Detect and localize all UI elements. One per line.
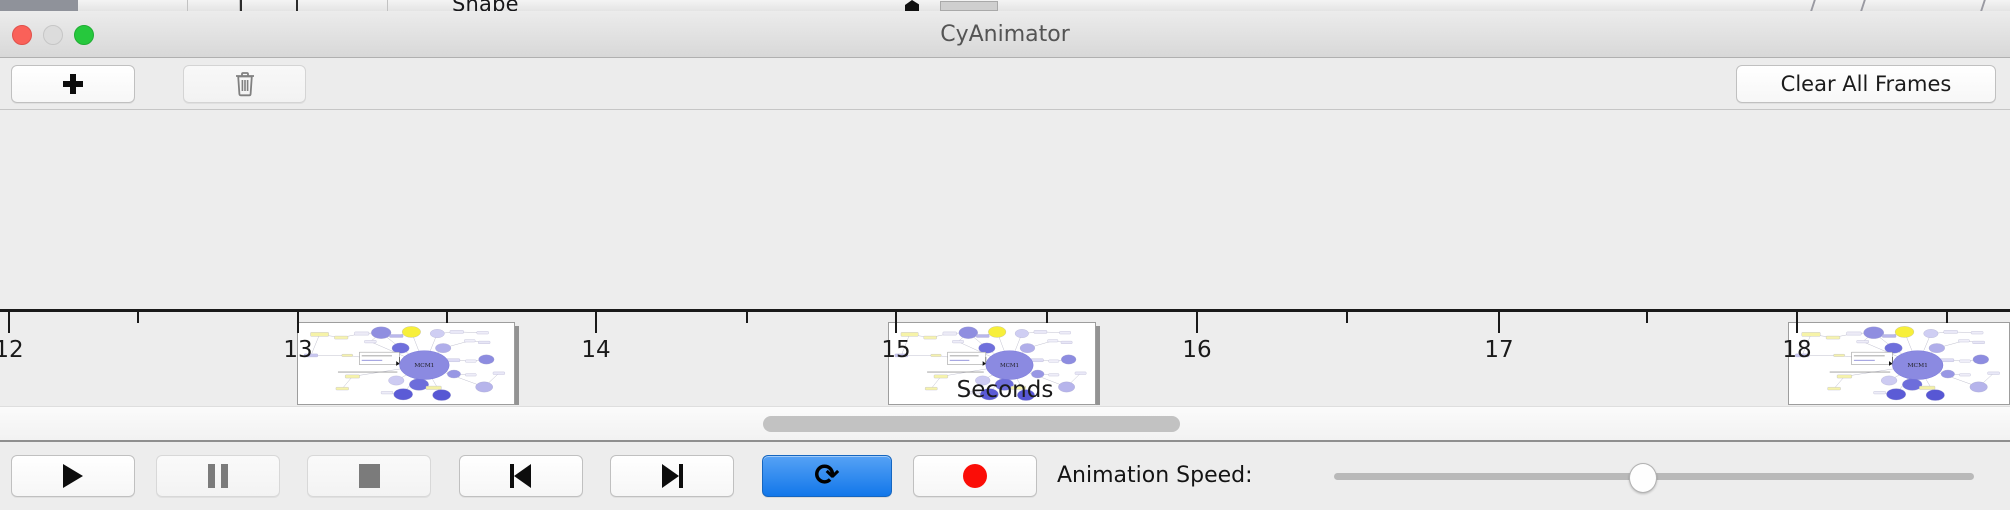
record-button[interactable] xyxy=(913,455,1037,497)
clear-all-frames-label: Clear All Frames xyxy=(1781,72,1952,96)
skip-to-end-button[interactable] xyxy=(610,455,734,497)
play-icon xyxy=(63,464,83,488)
background-window-tick xyxy=(296,0,298,11)
ruler-axis-line xyxy=(0,309,2010,312)
play-button[interactable] xyxy=(11,455,135,497)
animation-speed-label: Animation Speed: xyxy=(1057,455,1253,497)
background-window-glyph xyxy=(905,0,919,11)
background-window-slash xyxy=(1980,0,1998,11)
background-window-segment xyxy=(312,0,388,11)
close-icon[interactable] xyxy=(12,25,32,45)
ruler-tick-label: 14 xyxy=(581,337,610,363)
ruler-tick-major xyxy=(895,312,897,333)
window-controls xyxy=(12,25,94,45)
background-window-box xyxy=(940,1,998,11)
maximize-icon[interactable] xyxy=(74,25,94,45)
ruler-tick-minor xyxy=(446,312,448,323)
ruler-tick-label: 15 xyxy=(881,337,910,363)
ruler-tick-major xyxy=(1796,312,1798,333)
ruler-tick-major xyxy=(1498,312,1500,333)
axis-title: Seconds xyxy=(0,377,2010,403)
ruler-tick-minor xyxy=(137,312,139,323)
ruler-tick-label: 12 xyxy=(0,337,24,363)
ruler-tick-major xyxy=(595,312,597,333)
trash-icon xyxy=(234,71,256,97)
minimize-icon[interactable] xyxy=(43,25,63,45)
skip-to-end-icon xyxy=(661,464,683,488)
scrollbar-thumb[interactable] xyxy=(763,416,1180,432)
ruler-tick-label: 17 xyxy=(1484,337,1513,363)
loop-button[interactable]: ⟳ xyxy=(762,455,892,497)
playback-controlbar: ⟳ Animation Speed: xyxy=(0,442,2010,510)
ruler-tick-minor xyxy=(1346,312,1348,323)
background-window-slash xyxy=(1810,0,1828,11)
clear-all-frames-button[interactable]: Clear All Frames xyxy=(1736,65,1996,103)
skip-to-start-icon xyxy=(510,464,532,488)
stop-button[interactable] xyxy=(307,455,431,497)
timeline-ruler: 12131415161718 Seconds xyxy=(0,309,2010,405)
pause-icon xyxy=(208,464,228,488)
stop-icon xyxy=(359,464,380,488)
add-frame-button[interactable] xyxy=(11,65,135,103)
pause-button[interactable] xyxy=(156,455,280,497)
ruler-tick-label: 18 xyxy=(1782,337,1811,363)
ruler-tick-major xyxy=(8,312,10,333)
record-icon xyxy=(963,464,987,488)
background-window-slash xyxy=(1860,0,1878,11)
background-window-dark-block xyxy=(0,0,78,11)
ruler-tick-minor xyxy=(1946,312,1948,323)
animation-speed-slider[interactable] xyxy=(1334,455,1974,497)
ruler-tick-label: 13 xyxy=(283,337,312,363)
frames-toolbar: Clear All Frames xyxy=(0,58,2010,110)
skip-to-start-button[interactable] xyxy=(459,455,583,497)
ruler-tick-label: 16 xyxy=(1182,337,1211,363)
loop-icon: ⟳ xyxy=(814,461,839,491)
ruler-tick-minor xyxy=(1046,312,1048,323)
background-window-segment xyxy=(188,0,240,11)
ruler-tick-major xyxy=(1196,312,1198,333)
timeline-scrollbar[interactable] xyxy=(0,406,2010,442)
ruler-tick-minor xyxy=(746,312,748,323)
cyanimator-window: Shape CyAnimator Clear All Fra xyxy=(0,0,2010,510)
delete-frame-button[interactable] xyxy=(183,65,306,103)
page-title: CyAnimator xyxy=(0,11,2010,58)
timeline-panel[interactable]: MCM1MCM1MCM1 12131415161718 Seconds xyxy=(0,110,2010,405)
titlebar[interactable]: CyAnimator xyxy=(0,11,2010,58)
background-window-segment xyxy=(78,0,188,11)
background-window-tick xyxy=(240,0,242,11)
ruler-tick-minor xyxy=(1646,312,1648,323)
plus-icon xyxy=(63,74,83,94)
slider-thumb[interactable] xyxy=(1629,463,1657,493)
ruler-tick-major xyxy=(297,312,299,333)
